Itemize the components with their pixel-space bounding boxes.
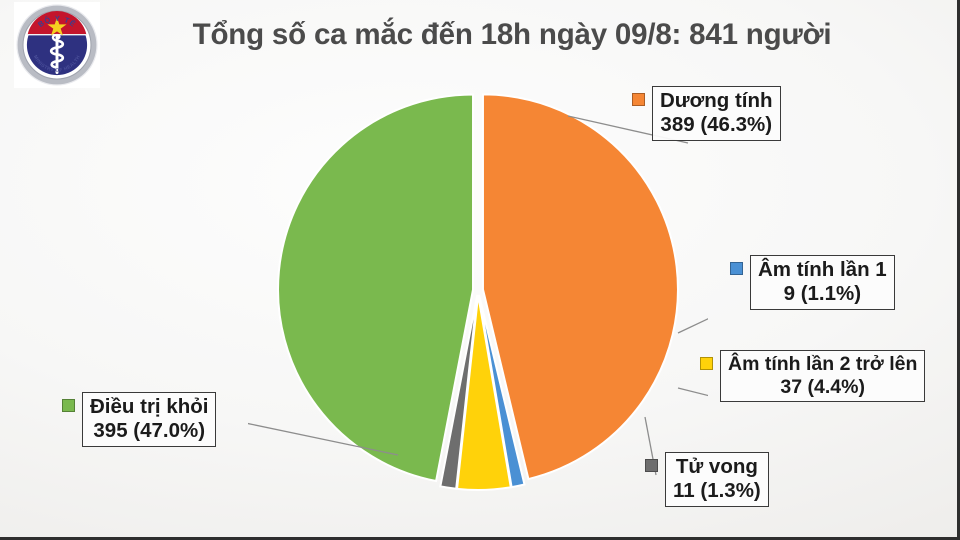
slice-name-am-tinh-lan-2: Âm tính lần 2 trở lên xyxy=(728,353,917,375)
slice-name-duong-tinh: Dương tính xyxy=(660,89,773,112)
orange-swatch xyxy=(632,93,645,106)
blue-swatch xyxy=(730,262,743,275)
callout-am-tinh-lan-2[interactable]: Âm tính lần 2 trở lên 37 (4.4%) xyxy=(700,350,925,402)
page-title: Tổng số ca mắc đến 18h ngày 09/8: 841 ng… xyxy=(112,18,912,52)
label-box-dieu-tri-khoi: Điều trị khỏi 395 (47.0%) xyxy=(82,392,216,447)
leader-line-am-tinh-1 xyxy=(678,315,708,333)
callout-duong-tinh[interactable]: Dương tính 389 (46.3%) xyxy=(632,86,781,141)
slice-name-tu-vong: Tử vong xyxy=(676,455,758,478)
slice-value-duong-tinh: 389 (46.3%) xyxy=(660,113,773,137)
ministry-of-health-logo: BỘ Y TẾ MINISTRY OF HEALTH xyxy=(14,2,100,88)
callout-dieu-tri-khoi[interactable]: Điều trị khỏi 395 (47.0%) xyxy=(62,392,216,447)
label-box-duong-tinh: Dương tính 389 (46.3%) xyxy=(652,86,781,141)
callout-tu-vong[interactable]: Tử vong 11 (1.3%) xyxy=(645,452,769,507)
slice-value-dieu-tri-khoi: 395 (47.0%) xyxy=(90,419,208,443)
label-box-tu-vong: Tử vong 11 (1.3%) xyxy=(665,452,769,507)
green-swatch xyxy=(62,399,75,412)
callout-am-tinh-lan-1[interactable]: Âm tính lần 1 9 (1.1%) xyxy=(730,255,895,310)
label-box-am-tinh-lan-1: Âm tính lần 1 9 (1.1%) xyxy=(750,255,895,310)
slide-canvas: BỘ Y TẾ MINISTRY OF HEALTH Tổng số ca mắ… xyxy=(0,0,960,540)
pie-slice[interactable] xyxy=(483,94,678,479)
slice-value-am-tinh-lan-2: 37 (4.4%) xyxy=(728,376,917,399)
yellow-swatch xyxy=(700,357,713,370)
logo-icon: BỘ Y TẾ MINISTRY OF HEALTH xyxy=(14,2,100,88)
gray-swatch xyxy=(645,459,658,472)
label-box-am-tinh-lan-2: Âm tính lần 2 trở lên 37 (4.4%) xyxy=(720,350,925,402)
slice-value-tu-vong: 11 (1.3%) xyxy=(673,479,761,503)
pie-slice[interactable] xyxy=(278,95,473,481)
slice-value-am-tinh-lan-1: 9 (1.1%) xyxy=(758,282,887,306)
slice-name-dieu-tri-khoi: Điều trị khỏi xyxy=(90,395,208,418)
slice-name-am-tinh-lan-1: Âm tính lần 1 xyxy=(758,258,887,281)
